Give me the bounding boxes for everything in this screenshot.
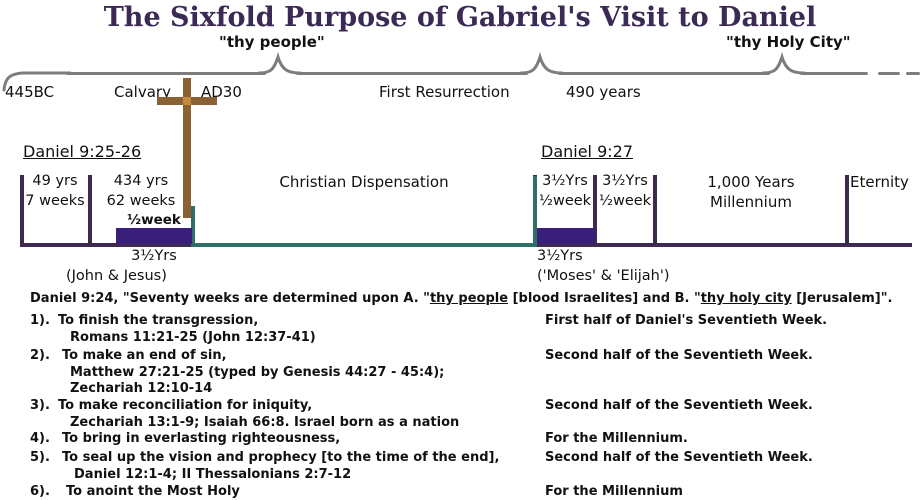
scripture-header-daniel-9-25-26: Daniel 9:25-26	[23, 142, 141, 161]
purpose-2-ref-2: Zechariah 12:10-14	[70, 381, 212, 396]
purpose-3-num: 3).	[30, 398, 50, 413]
diagram-canvas: The Sixfold Purpose of Gabriel's Visit t…	[0, 0, 920, 500]
teal-bottom-edge	[191, 243, 537, 247]
cross-icon-center	[183, 97, 191, 105]
cell-second-half-70th: 3½Yrs ½week	[596, 172, 654, 211]
purpose-2-text: To make an end of sin,	[62, 348, 227, 363]
verse-underline-thy-people: thy people	[430, 291, 508, 306]
cell-eternity-line1: Eternity	[850, 172, 920, 192]
page-title: The Sixfold Purpose of Gabriel's Visit t…	[0, 2, 920, 33]
cell-second-half-70th-line1: 3½Yrs	[596, 172, 654, 192]
scripture-header-daniel-9-27: Daniel 9:27	[541, 142, 633, 161]
cell-434yrs-line1: 434 yrs	[92, 172, 190, 192]
cell-434yrs: 434 yrs 62 weeks	[92, 172, 190, 211]
bar-label-3half-yrs-right: 3½Yrs	[537, 247, 613, 267]
cell-millennium-line1: 1,000 Years	[657, 172, 845, 192]
purpose-5-ref-1: Daniel 12:1-4; II Thessalonians 2:7-12	[74, 467, 351, 482]
cell-49yrs: 49 yrs 7 weeks	[22, 172, 88, 211]
verse-part2: [blood Israelites] and B. "	[508, 291, 701, 306]
purpose-1-ref-1: Romans 11:21-25 (John 12:37-41)	[70, 330, 316, 345]
bracket-segment-far-right	[800, 72, 868, 75]
purpose-2-ref-1: Matthew 27:21-25 (typed by Genesis 44:27…	[70, 365, 444, 380]
bar-label-3half-yrs-left: 3½Yrs	[116, 247, 192, 267]
purpose-3-text: To make reconciliation for iniquity,	[58, 398, 312, 413]
era-label-first-resurrection: First Resurrection	[379, 83, 510, 101]
under-label-john-jesus: (John & Jesus)	[66, 268, 167, 284]
purpose-6-num: 6).	[30, 484, 50, 499]
purpose-3-note: Second half of the Seventieth Week.	[545, 398, 813, 413]
cell-first-half-70th: 3½Yrs ½week	[536, 172, 594, 211]
cell-second-half-70th-line2: ½week	[596, 192, 654, 212]
cell-eternity: Eternity	[850, 172, 920, 192]
purpose-5-text: To seal up the vision and prophecy [to t…	[62, 450, 499, 465]
purpose-4-text: To bring in everlasting righteousness,	[62, 431, 340, 446]
purpose-2-note: Second half of the Seventieth Week.	[545, 348, 813, 363]
verse-underline-thy-holy-city: thy holy city	[701, 291, 792, 306]
era-label-445bc: 445BC	[5, 83, 54, 101]
purpose-1-note: First half of Daniel's Seventieth Week.	[545, 313, 827, 328]
cell-millennium-line2: Millennium	[657, 192, 845, 212]
verse-part1: Daniel 9:24, "Seventy weeks are determin…	[30, 291, 430, 306]
cell-christian-dispensation-line1: Christian Dispensation	[196, 172, 532, 192]
purpose-2-num: 2).	[30, 348, 50, 363]
cell-first-half-70th-line2: ½week	[536, 192, 594, 212]
bar-second-half-week	[537, 228, 595, 244]
cell-christian-dispensation: Christian Dispensation	[196, 172, 532, 192]
purpose-3-ref-1: Zechariah 13:1-9; Isaiah 66:8. Israel bo…	[70, 415, 459, 430]
verse-daniel-9-24: Daniel 9:24, "Seventy weeks are determin…	[30, 291, 892, 306]
purpose-5-note: Second half of the Seventieth Week.	[545, 450, 813, 465]
bar-label-half-week-left: ½week	[116, 211, 192, 229]
purpose-5-num: 5).	[30, 450, 50, 465]
bar-first-half-week	[116, 228, 192, 244]
bracket-segment-middle	[296, 72, 528, 75]
under-label-moses-elijah: ('Moses' & 'Elijah')	[537, 268, 670, 284]
chart-divider-eternity	[845, 175, 849, 245]
purpose-6-note: For the Millennium	[545, 484, 683, 499]
bracket-dash-1	[878, 72, 900, 75]
verse-part3: [Jerusalem]".	[792, 291, 893, 306]
purpose-1-text: To finish the transgression,	[58, 313, 258, 328]
era-label-490-years: 490 years	[566, 83, 641, 101]
cell-434yrs-line2: 62 weeks	[92, 192, 190, 212]
purpose-4-num: 4).	[30, 431, 50, 446]
bracket-segment-right	[558, 72, 770, 75]
purpose-6-text: To anoint the Most Holy	[66, 484, 240, 499]
cell-millennium: 1,000 Years Millennium	[657, 172, 845, 213]
purpose-4-note: For the Millennium.	[545, 431, 688, 446]
cell-49yrs-line2: 7 weeks	[22, 192, 88, 212]
brace-label-thy-holy-city: "thy Holy City"	[726, 33, 851, 51]
brace-label-thy-people: "thy people"	[219, 33, 325, 51]
bracket-segment-left	[66, 72, 266, 75]
cell-49yrs-line1: 49 yrs	[22, 172, 88, 192]
purpose-1-num: 1).	[30, 313, 50, 328]
cell-first-half-70th-line1: 3½Yrs	[536, 172, 594, 192]
bracket-dash-2	[906, 72, 920, 75]
